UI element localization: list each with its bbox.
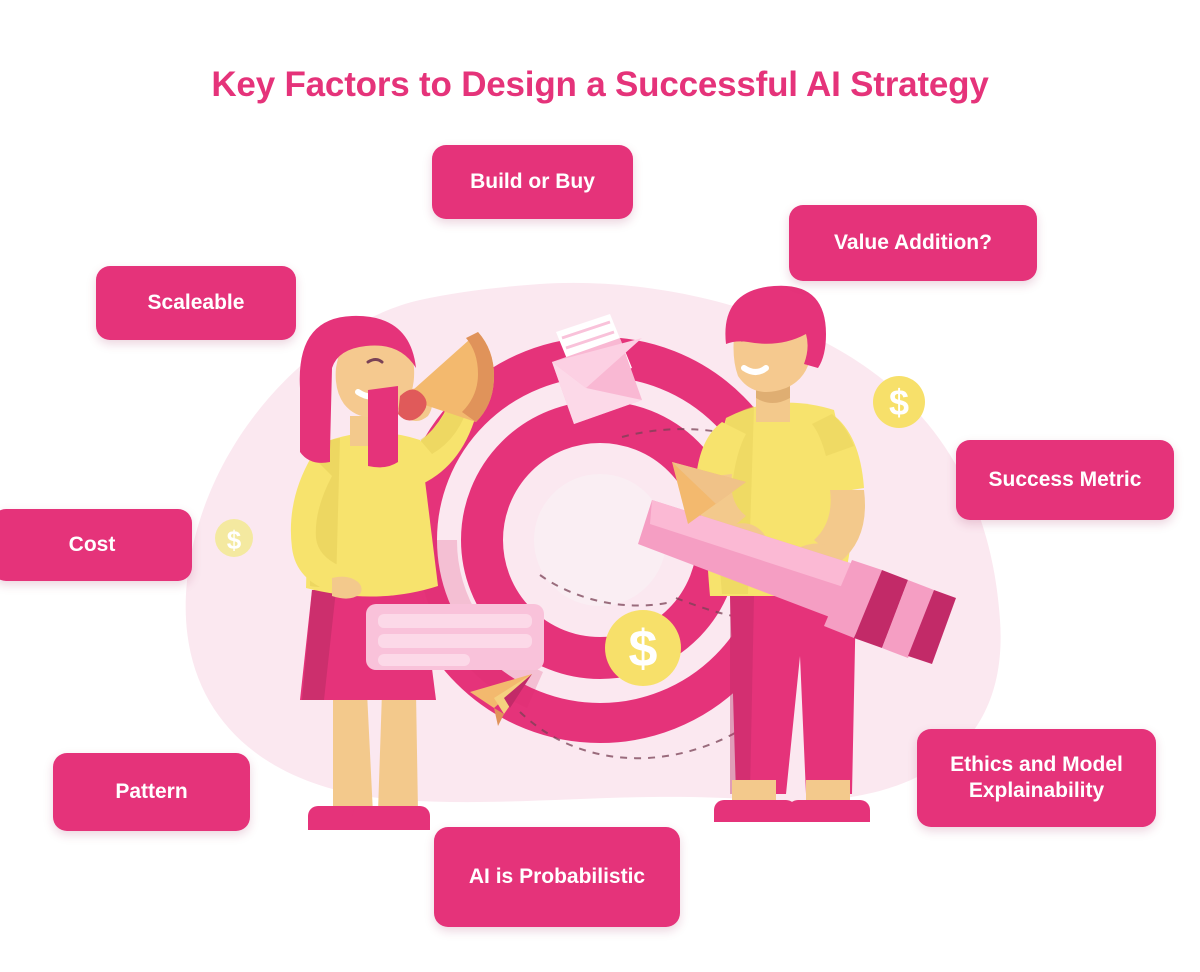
factor-card-value-addition[interactable]: Value Addition? [789, 205, 1037, 281]
factor-card-build-or-buy[interactable]: Build or Buy [432, 145, 633, 219]
factor-card-label: Scaleable [148, 290, 245, 316]
factor-card-label: Pattern [115, 779, 187, 805]
factor-card-label: Cost [69, 532, 116, 558]
factor-card-success-metric[interactable]: Success Metric [956, 440, 1174, 520]
factor-card-pattern[interactable]: Pattern [53, 753, 250, 831]
coin-tiny: $ [215, 519, 253, 557]
page-title: Key Factors to Design a Successful AI St… [0, 65, 1200, 105]
svg-text:$: $ [629, 620, 658, 678]
infographic-page: $ $ $ Build or Buy Value Addition? [0, 0, 1200, 972]
factor-card-ai-is-probabilistic[interactable]: AI is Probabilistic [434, 827, 680, 927]
factor-card-ethics-and-model-explainability[interactable]: Ethics and Model Explainability [917, 729, 1156, 827]
note-card [366, 604, 544, 670]
factor-card-label: Success Metric [989, 467, 1142, 493]
coin-large: $ [605, 610, 681, 686]
svg-text:$: $ [889, 382, 909, 423]
coin-small: $ [873, 376, 925, 428]
factor-card-label: Value Addition? [834, 230, 992, 256]
factor-card-label: Ethics and Model Explainability [935, 752, 1138, 803]
factor-card-label: Build or Buy [470, 169, 595, 195]
factor-card-cost[interactable]: Cost [0, 509, 192, 581]
factor-card-label: AI is Probabilistic [469, 864, 645, 890]
svg-text:$: $ [227, 525, 242, 555]
factor-card-scaleable[interactable]: Scaleable [96, 266, 296, 340]
